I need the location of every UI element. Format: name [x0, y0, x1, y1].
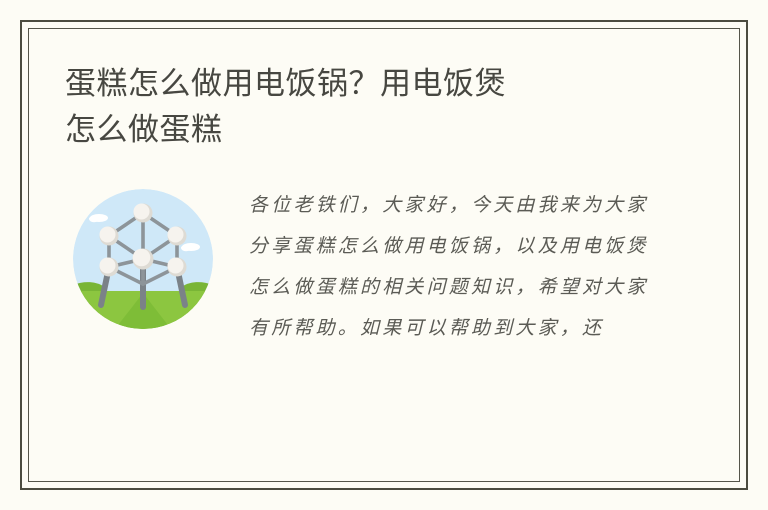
page-title: 蛋糕怎么做用电饭锅？用电饭煲 怎么做蛋糕 — [65, 61, 703, 153]
content-area: 蛋糕怎么做用电饭锅？用电饭煲 怎么做蛋糕 — [29, 29, 739, 481]
article-body: 各位老铁们，大家好，今天由我来为大家分享蛋糕怎么做用电饭锅，以及用电饭煲怎么做蛋… — [65, 185, 703, 349]
article-inner-frame: 蛋糕怎么做用电饭锅？用电饭煲 怎么做蛋糕 — [28, 28, 740, 482]
intro-paragraph: 各位老铁们，大家好，今天由我来为大家分享蛋糕怎么做用电饭锅，以及用电饭煲怎么做蛋… — [249, 185, 669, 349]
illustration-thumbnail — [73, 189, 213, 329]
article-card: 蛋糕怎么做用电饭锅？用电饭煲 怎么做蛋糕 — [20, 20, 748, 490]
atomium-landmark-icon — [73, 189, 213, 329]
